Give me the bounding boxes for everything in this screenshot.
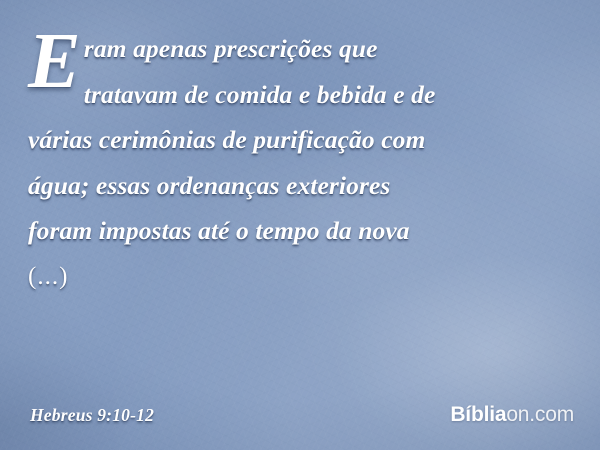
logo-suffix-text: on.com [506, 403, 574, 427]
verse-image-card: Eram apenas prescrições que tratavam de … [0, 0, 600, 450]
verse-line-1: ram apenas prescrições que [84, 34, 378, 63]
logo-brand-text: Bíblia [450, 403, 506, 427]
verse-line-5: foram impostas até o tempo da nova [28, 208, 576, 254]
card-footer: Hebreus 9:10-12 Bíbliaon.com [0, 402, 600, 428]
card-content: Eram apenas prescrições que tratavam de … [0, 0, 600, 450]
verse-line-3: várias cerimônias de purificação com [28, 117, 576, 163]
verse-line-2: tratavam de comida e bebida e de [28, 72, 576, 118]
scripture-reference: Hebreus 9:10-12 [30, 405, 154, 426]
verse-dropcap: E [28, 30, 81, 93]
bibliaon-logo[interactable]: Bíbliaon.com [450, 403, 574, 427]
verse-text-block: Eram apenas prescrições que tratavam de … [28, 26, 576, 299]
verse-line-4: água; essas ordenanças exteriores [28, 163, 576, 209]
verse-truncation-marker: (...) [28, 254, 576, 300]
